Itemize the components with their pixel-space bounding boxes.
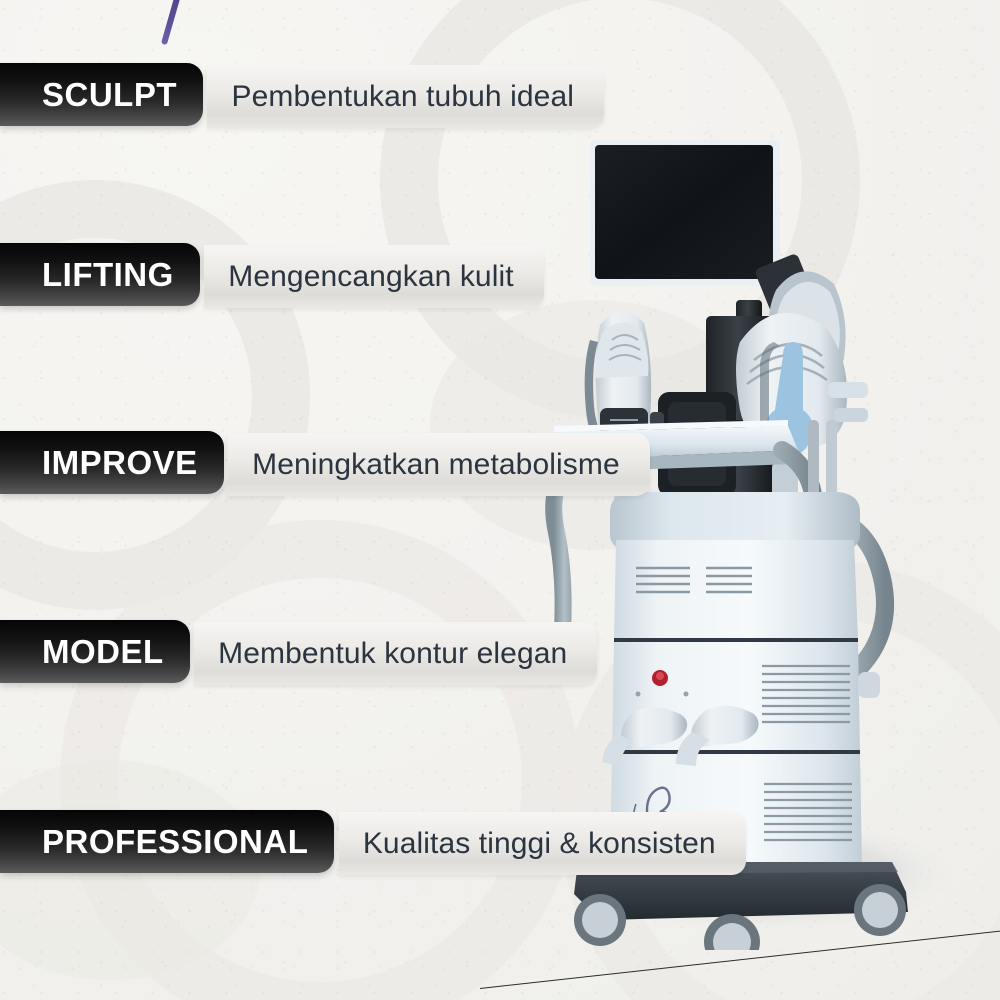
feature-row-model: MODEL Membentuk kontur elegan: [0, 614, 597, 685]
feature-row-professional: PROFESSIONAL Kualitas tinggi & konsisten: [0, 804, 746, 875]
feature-description-model: Membentuk kontur elegan: [194, 622, 597, 685]
feature-description-lifting: Mengencangkan kulit: [204, 245, 543, 308]
feature-badge-lifting[interactable]: LIFTING: [0, 243, 200, 306]
feature-description-improve: Meningkatkan metabolisme: [228, 433, 650, 496]
feature-description-sculpt: Pembentukan tubuh ideal: [207, 65, 604, 128]
feature-description-professional: Kualitas tinggi & konsisten: [339, 812, 746, 875]
feature-row-lifting: LIFTING Mengencangkan kulit: [0, 237, 544, 308]
feature-badge-improve[interactable]: IMPROVE: [0, 431, 224, 494]
poster-canvas: beauty: [0, 0, 1000, 1000]
feature-badge-professional[interactable]: PROFESSIONAL: [0, 810, 334, 873]
machine-hose-connector: [858, 672, 880, 698]
feature-row-improve: IMPROVE Meningkatkan metabolisme: [0, 425, 650, 496]
feature-badge-sculpt[interactable]: SCULPT: [0, 63, 203, 126]
feature-badge-model[interactable]: MODEL: [0, 620, 190, 683]
feature-row-sculpt: SCULPT Pembentukan tubuh ideal: [0, 57, 604, 128]
